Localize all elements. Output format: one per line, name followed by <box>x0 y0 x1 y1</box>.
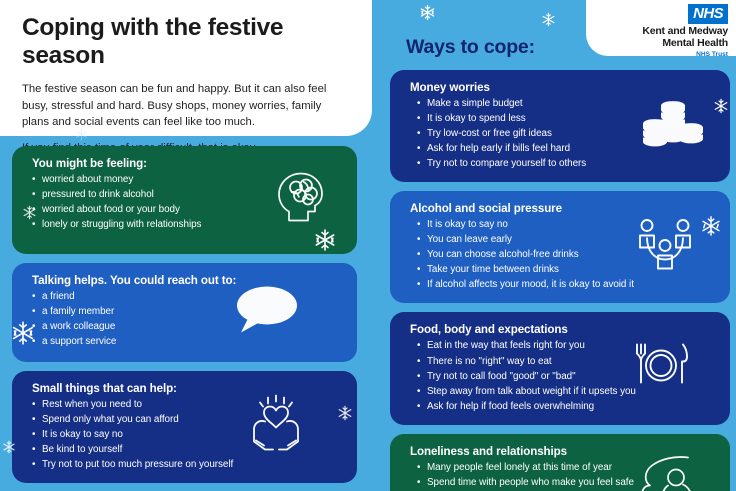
card-list: worried about money pressured to drink a… <box>32 172 343 232</box>
card-title: Talking helps. You could reach out to: <box>32 274 343 287</box>
list-item: Ask for help early if bills feel hard <box>410 141 716 156</box>
card-food-body-expectations: Food, body and expectations Eat in the w… <box>390 312 730 424</box>
card-list: Many people feel lonely at this time of … <box>410 460 716 491</box>
trust-subtitle: NHS Trust <box>586 51 728 58</box>
card-list: It is okay to say no You can leave early… <box>410 217 716 292</box>
card-you-might-be-feeling: You might be feeling: worried about mone… <box>12 146 357 254</box>
card-title: Food, body and expectations <box>410 323 716 336</box>
list-item: Step away from talk about weight if it u… <box>410 384 716 399</box>
snowflake-icon <box>419 4 436 26</box>
list-item: Try not to put too much pressure on your… <box>32 457 343 472</box>
card-list: Make a simple budget It is okay to spend… <box>410 96 716 171</box>
right-column: Money worries Make a simple budget It is… <box>390 70 730 491</box>
list-item: a friend <box>32 289 343 304</box>
list-item: lonely or struggling with relationships <box>32 217 343 232</box>
list-item: Spend only what you can afford <box>32 412 343 427</box>
ways-to-cope-heading: Ways to cope: <box>406 36 535 59</box>
list-item: a work colleague <box>32 319 343 334</box>
list-item: Ask for help if food feels overwhelming <box>410 399 716 414</box>
list-item: a support service <box>32 334 343 349</box>
list-item: It is okay to spend less <box>410 111 716 126</box>
list-item: Rest when you need to <box>32 397 343 412</box>
card-title: You might be feeling: <box>32 157 343 170</box>
list-item: Be kind to yourself <box>32 442 343 457</box>
snowflake-icon <box>541 12 556 32</box>
list-item: Spend time with people who make you feel… <box>410 475 716 490</box>
card-list: a friend a family member a work colleagu… <box>32 289 343 349</box>
card-list: Eat in the way that feels right for you … <box>410 338 716 413</box>
nhs-logo-icon: NHS <box>688 4 728 24</box>
header-paragraph-1: The festive season can be fun and happy.… <box>22 81 346 131</box>
card-list: Rest when you need to Spend only what yo… <box>32 397 343 472</box>
left-column: You might be feeling: worried about mone… <box>12 146 357 491</box>
list-item: There is no "right" way to eat <box>410 354 716 369</box>
list-item: Many people feel lonely at this time of … <box>410 460 716 475</box>
list-item: If alcohol affects your mood, it is okay… <box>410 277 716 292</box>
card-small-things-that-help: Small things that can help: Rest when yo… <box>12 371 357 483</box>
list-item: worried about food or your body <box>32 202 343 217</box>
header-card: Coping with the festive season The festi… <box>0 0 372 136</box>
list-item: Make a simple budget <box>410 96 716 111</box>
card-title: Money worries <box>410 81 716 94</box>
card-title: Loneliness and relationships <box>410 445 716 458</box>
list-item: It is okay to say no <box>32 427 343 442</box>
card-title: Alcohol and social pressure <box>410 202 716 215</box>
list-item: Take your time between drinks <box>410 262 716 277</box>
trust-name-line-1: Kent and Medway <box>586 26 728 38</box>
list-item: Try not to call food "good" or "bad" <box>410 369 716 384</box>
card-title: Small things that can help: <box>32 382 343 395</box>
list-item: Eat in the way that feels right for you <box>410 338 716 353</box>
card-loneliness-relationships: Loneliness and relationships Many people… <box>390 434 730 491</box>
list-item: Try not to compare yourself to others <box>410 156 716 171</box>
list-item: Try low-cost or free gift ideas <box>410 126 716 141</box>
trust-name-line-2: Mental Health <box>586 38 728 50</box>
list-item: You can choose alcohol-free drinks <box>410 247 716 262</box>
page-title: Coping with the festive season <box>22 14 346 70</box>
festive-coping-infographic: Coping with the festive season The festi… <box>0 0 736 491</box>
list-item: It is okay to say no <box>410 217 716 232</box>
list-item: You can leave early <box>410 232 716 247</box>
list-item: a family member <box>32 304 343 319</box>
card-talking-helps: Talking helps. You could reach out to: a… <box>12 263 357 362</box>
list-item: worried about money <box>32 172 343 187</box>
nhs-logo-card: NHS Kent and Medway Mental Health NHS Tr… <box>586 0 736 56</box>
card-money-worries: Money worries Make a simple budget It is… <box>390 70 730 182</box>
card-alcohol-social-pressure: Alcohol and social pressure It is okay t… <box>390 191 730 303</box>
list-item: pressured to drink alcohol <box>32 187 343 202</box>
